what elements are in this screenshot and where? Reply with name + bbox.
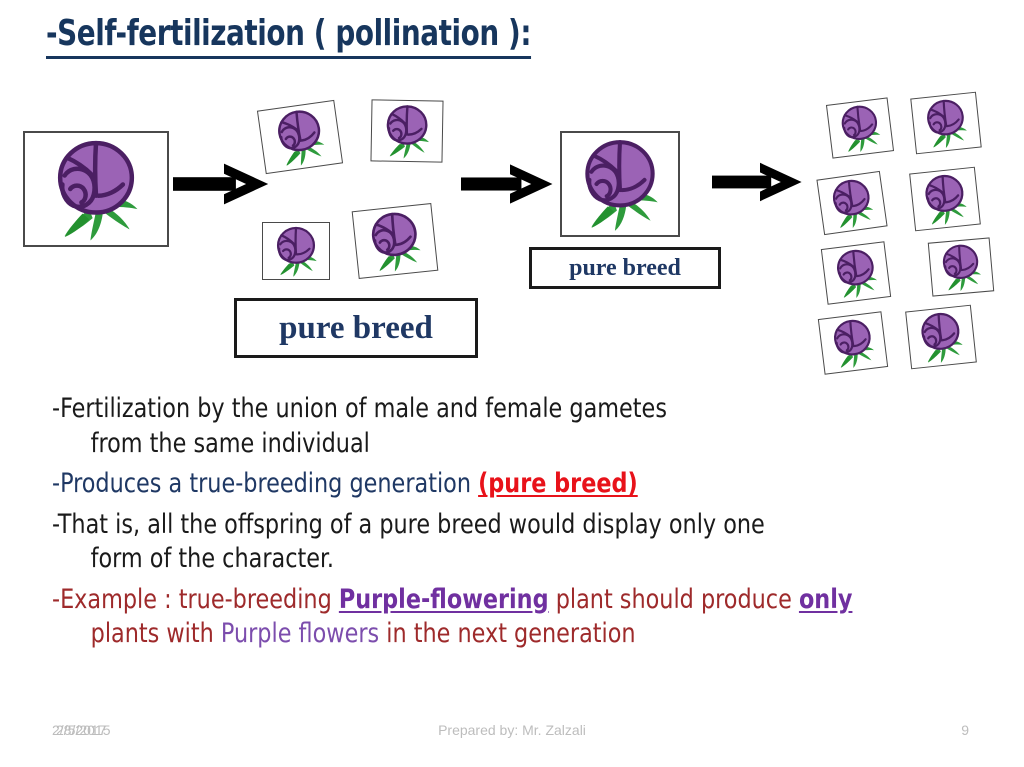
gamete-flower-box-2 (370, 99, 443, 162)
arrow-right-icon-2 (461, 161, 559, 207)
bullet-4-purple-flowering: Purple-flowering (339, 584, 549, 615)
flower-icon (822, 242, 890, 303)
offspring-flower-box-8 (905, 305, 977, 370)
bullet-2-emphasis-pure-breed: (pure breed) (478, 468, 638, 499)
offspring-flower-box-6 (928, 237, 994, 296)
footer-prepared-by: Prepared by: Mr. Zalzali (0, 722, 1024, 738)
bullet-3-line-1: -That is, all the offspring of a pure br… (52, 509, 765, 540)
body-text-block: -Fertilization by the union of male and … (52, 392, 1002, 658)
bullet-4-line-2: plants with Purple flowers in the next g… (52, 617, 926, 652)
flower-icon (353, 204, 437, 278)
offspring-flower-box-7 (818, 311, 888, 374)
gamete-flower-box-3 (262, 222, 330, 280)
arrow-right-icon-1 (173, 160, 275, 208)
bullet-2-lead: -Produces a true-breeding generation (52, 468, 478, 499)
offspring-flower-box-5 (821, 241, 891, 304)
slide-canvas: -Self-fertilization ( pollination ): (0, 0, 1024, 767)
bullet-4-line-2-part-1: plants with (91, 618, 221, 649)
self-fertilization-diagram: pure breed pure breed (0, 0, 1024, 400)
bullet-3: -That is, all the offspring of a pure br… (52, 508, 926, 577)
pure-breed-label-text: pure breed (569, 255, 681, 282)
flower-icon (258, 101, 342, 173)
parent-flower-box (23, 131, 169, 247)
flower-icon (818, 172, 887, 234)
bullet-4-part-1: -Example : true-breeding (52, 584, 339, 615)
flower-icon (911, 93, 980, 153)
offspring-flower-box-1 (826, 97, 894, 158)
flower-icon (562, 133, 678, 235)
offspring-flower-box-2 (910, 92, 981, 155)
offspring-flower-box-3 (816, 171, 887, 235)
pure-breed-label-text: pure breed (279, 310, 433, 347)
pure-breed-label-box-2: pure breed (529, 247, 721, 289)
bullet-4-only: only (799, 584, 852, 615)
bullet-1-line-2: from the same individual (52, 427, 926, 462)
bullet-4: -Example : true-breeding Purple-flowerin… (52, 583, 926, 652)
arrow-glyph (173, 160, 275, 208)
arrow-glyph (461, 161, 559, 207)
bullet-4-purple-flowers: Purple flowers (221, 618, 379, 649)
arrow-glyph (712, 159, 808, 205)
bullet-1-line-1: -Fertilization by the union of male and … (52, 393, 667, 424)
bullet-4-part-2: plant should produce (549, 584, 799, 615)
bullet-1: -Fertilization by the union of male and … (52, 392, 926, 461)
bullet-2: -Produces a true-breeding generation (pu… (52, 467, 926, 502)
gamete-flower-box-4 (352, 203, 439, 279)
flower-icon (263, 223, 329, 279)
arrow-right-icon-3 (712, 159, 808, 205)
slide-footer: 2/8/2017 2/5/2015 Prepared by: Mr. Zalza… (0, 722, 1024, 750)
flower-icon (371, 100, 442, 161)
flower-icon (929, 238, 993, 295)
offspring-flower-box-4 (909, 167, 981, 232)
footer-page-number: 9 (961, 722, 969, 738)
bullet-3-line-2: form of the character. (52, 542, 926, 577)
flower-icon (910, 168, 980, 230)
bullet-4-line-2-part-2: in the next generation (379, 618, 635, 649)
gamete-flower-box-1 (257, 100, 343, 174)
pure-breed-flower-box (560, 131, 680, 237)
pure-breed-label-box-1: pure breed (234, 298, 478, 358)
flower-icon (827, 99, 893, 158)
flower-icon (906, 306, 976, 368)
flower-icon (819, 312, 887, 373)
flower-icon (25, 133, 167, 245)
